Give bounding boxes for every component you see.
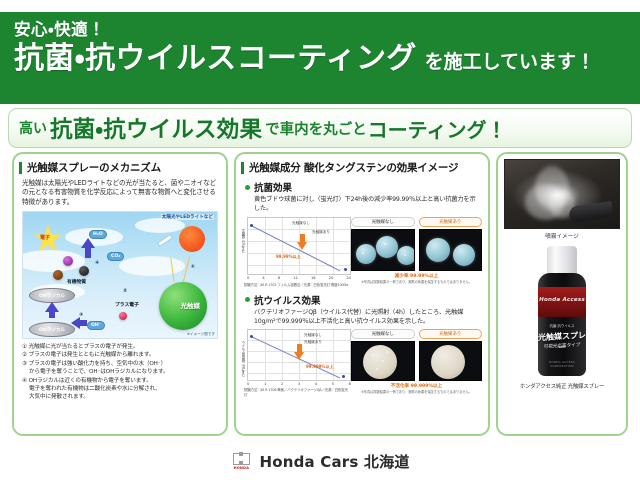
- photo-pair: 光触媒なし 光触媒あり: [351, 329, 482, 381]
- gridline: [248, 229, 350, 230]
- plaque-speck: [376, 368, 378, 370]
- chart-y-label: 生菌数（CFU/mL）: [241, 229, 246, 255]
- header-banner: 安心・快適！ 抗菌・抗ウイルスコーティング を施工しています！: [0, 12, 640, 104]
- accent-bar: [241, 162, 244, 174]
- chart-y-label: ウイルス感染価（PFU/mL）: [241, 341, 246, 378]
- decrease-arrow-icon: [297, 234, 308, 250]
- molecule-oh: OH⁻: [87, 321, 105, 330]
- bottle-brand: Honda Access: [538, 297, 586, 303]
- bottle-upper-text: 抗菌・抗ウイルス: [538, 323, 586, 328]
- tick: 20: [329, 276, 334, 280]
- antiviral-chart: ウイルス感染価（PFU/mL） 99.999%以上 光触: [243, 329, 351, 397]
- step-marker-4: ④: [95, 260, 99, 266]
- chart-annotation: 99.99%以上: [276, 254, 301, 260]
- step-line: ② プラスの電子は発生とともに光触媒から離れます。: [22, 351, 220, 359]
- banner-main-row: 抗菌・抗ウイルスコーティング を施工しています！: [14, 42, 634, 76]
- tick: 24: [346, 276, 351, 280]
- photo-footnote: ※写真は試験結果の一例であり、実際の効果を保証するものではありません。: [351, 280, 482, 284]
- oh-radical-label-2: OHラジカル: [29, 322, 75, 337]
- petri-photo-with: [419, 229, 483, 271]
- honda-logo-icon: HONDA: [230, 450, 252, 472]
- particle: [79, 266, 89, 276]
- tick: 8: [278, 276, 280, 280]
- spray-caption: 噴霧イメージ: [498, 232, 626, 240]
- step-line: ③ プラスの電子は強い酸化力を持ち、空気中の水（OH⁻）: [22, 360, 220, 368]
- decrease-arrow-icon: [294, 344, 305, 360]
- photo-footnote: ※写真は試験結果の一例であり、実際の効果を保証するものではありません。: [351, 390, 482, 394]
- photo-tag-with: 光触媒あり: [419, 217, 483, 227]
- organic-matter-label: 有機物質: [67, 278, 86, 285]
- spray-photo: [504, 159, 620, 229]
- cloud-shape: [22, 250, 85, 272]
- arrow-left-icon: [71, 317, 80, 329]
- data-point: [342, 375, 345, 378]
- molecule-co2: CO₂: [107, 252, 124, 261]
- tick: 1: [264, 382, 266, 386]
- advertisement-page: 安心・快適！ 抗菌・抗ウイルスコーティング を施工しています！ 高い 抗菌・抗ウ…: [0, 0, 640, 480]
- antibacterial-chart: 生菌数（CFU/mL） 99.99%以上 光触媒なし: [243, 217, 351, 288]
- mechanism-body: 光触媒は太陽光やLEDライトなどの光が当たると、菌やニオイなどの元となる有害物質…: [14, 179, 226, 207]
- mechanism-diagram: 太陽光やLEDライトなど 電子 ① H₂O CO₂ ④ 有機物質 OHラジカル …: [22, 211, 218, 339]
- chart-plot-area: 99.999%以上 光触媒なし 光触媒あり: [247, 329, 351, 381]
- bullet-dot-icon: [245, 185, 250, 190]
- photocatalyst-label: 光触媒: [181, 300, 201, 310]
- light-ray: [183, 256, 190, 281]
- petri-dish: [453, 244, 475, 266]
- honda-wordmark: HONDA: [234, 466, 250, 470]
- chart-legend-1: 光触媒なし: [304, 333, 322, 338]
- chart-legend-2: 光触媒あり: [304, 340, 322, 345]
- banner-tail-text: を施工しています！: [425, 47, 595, 74]
- data-point: [250, 224, 253, 227]
- photo-column-treated: 光触媒あり: [419, 329, 483, 381]
- gridline: [248, 265, 350, 266]
- petri-dish: [356, 244, 376, 264]
- effect-heading-row: 光触媒成分 酸化タングステンの効果イメージ: [241, 160, 488, 175]
- bottle-body: Honda Access 抗菌・抗ウイルス 光触媒スプレー 可視光応答タイプ H…: [538, 273, 586, 376]
- step-line: 電子を奪われた有機物は二酸化炭素や水に分解され、: [22, 385, 220, 393]
- product-panel: 噴霧イメージ Honda Access 抗菌・抗ウイルス 光触媒スプレー 可視光…: [496, 152, 628, 436]
- tick: 5: [332, 382, 334, 386]
- chart-caption: 試験方法：JIS R 1706 準拠／バクテリオファージQβ／光源：白色蛍光灯: [244, 388, 351, 397]
- effect-panel: 光触媒成分 酸化タングステンの効果イメージ 抗菌効果 黄色ブドウ球菌に対し〈蛍光…: [234, 152, 490, 436]
- banner-main-title: 抗菌・抗ウイルスコーティング: [14, 42, 417, 76]
- tick: 6: [349, 382, 351, 386]
- antibacterial-body: 黄色ブドウ球菌に対し〈蛍光灯〉下24h後の減少率99.99％以上と高い抗菌力を示…: [236, 196, 488, 214]
- arrow-up-icon: [45, 302, 59, 312]
- product-caption: ホンダアクセス純正 光触媒スプレー: [498, 382, 626, 390]
- gridline: [248, 362, 350, 363]
- petri-photo-without: [351, 229, 415, 271]
- arrow-stem: [79, 320, 87, 326]
- accent-bar: [19, 162, 22, 174]
- footer: HONDA Honda Cars 北海道: [0, 442, 640, 480]
- plus-electron-label: プラス電子: [115, 301, 139, 308]
- subtitle-emphasis: 抗菌・抗ウイルス効果: [50, 112, 262, 144]
- diagram-note: ※イメージ図です: [187, 332, 215, 337]
- tick: 2: [281, 382, 283, 386]
- product-bottle: Honda Access 抗菌・抗ウイルス 光触媒スプレー 可視光応答タイプ H…: [534, 246, 590, 378]
- tick: 3: [298, 382, 300, 386]
- bottle-bottom-text: HONDA ACCESS CORPORATION: [538, 360, 586, 368]
- antiviral-evidence: ウイルス感染価（PFU/mL） 99.999%以上 光触: [243, 329, 482, 397]
- petri-photo-with: [419, 341, 483, 381]
- chart-legend-2: 光触媒あり: [312, 230, 330, 235]
- plaque-speck: [382, 360, 384, 362]
- antiviral-heading-row: 抗ウイルス効果: [245, 293, 488, 307]
- light-source-caption: 太陽光やLEDライトなど: [161, 214, 214, 220]
- effect-heading: 光触媒成分 酸化タングステンの効果イメージ: [249, 160, 458, 175]
- petri-dish: [376, 236, 398, 258]
- mechanism-heading: 光触媒スプレーのメカニズム: [27, 160, 161, 175]
- photo-tag-with: 光触媒あり: [419, 329, 483, 339]
- plaque-speck: [386, 351, 388, 353]
- bottle-cap: [547, 246, 577, 276]
- petri-dish: [431, 345, 465, 379]
- chart-annotation: 99.999%以上: [306, 364, 333, 370]
- cloud-shape: [119, 256, 185, 276]
- photo-pair: 光触媒なし 光触媒あり: [351, 217, 482, 271]
- photo-tag-without: 光触媒なし: [351, 329, 415, 339]
- step-line: 大気中に発散されます。: [22, 393, 220, 401]
- antiviral-body: バクテリオファージQβ（ウイルス代替）に光照射（4h）したところ、光触媒10g/…: [236, 309, 488, 327]
- chart-plot-area: 99.99%以上 光触媒なし 光触媒あり: [247, 217, 351, 275]
- subtitle-strip: 高い 抗菌・抗ウイルス効果 で車内を丸ごと コーティング！: [8, 108, 632, 148]
- antiviral-photos: 光触媒なし 光触媒あり: [351, 329, 482, 394]
- photo-column-treated: 光触媒あり: [419, 217, 483, 271]
- petri-photo-without: [351, 341, 415, 381]
- subtitle-lead: 高い: [19, 118, 47, 138]
- honda-h-mark: [233, 453, 250, 465]
- antibacterial-photos: 光触媒なし 光触媒あり: [351, 217, 482, 284]
- plaque-speck: [372, 354, 374, 356]
- chart-legend-1: 光触媒なし: [292, 221, 310, 226]
- step-line: ① 光触媒に光が当たるとプラスの電子が発生。: [22, 343, 220, 351]
- petri-dish: [426, 238, 450, 262]
- reduction-note: 減少率 99.99%以上: [351, 273, 482, 279]
- photo-column-control: 光触媒なし: [351, 329, 415, 381]
- colony-speck: [384, 243, 386, 245]
- subtitle-emphasis-2: コーティング！: [368, 114, 507, 143]
- petri-dish: [397, 246, 415, 265]
- arrow-up-icon: [81, 238, 95, 248]
- step-marker-1: ①: [191, 264, 195, 270]
- chart-x-ticks: 0 1 2 3 4 5 6: [247, 382, 351, 386]
- dealer-name: Honda Cars 北海道: [259, 451, 409, 472]
- tick: 0: [247, 276, 249, 280]
- banner-subtitle: 安心・快適！: [14, 21, 640, 38]
- petri-dish: [363, 345, 397, 379]
- colony-speck: [362, 252, 364, 254]
- oh-radical-label: OHラジカル: [29, 288, 75, 303]
- mechanism-panel: 光触媒スプレーのメカニズム 光触媒は太陽光やLEDライトなどの光が当たると、菌や…: [12, 152, 228, 436]
- reduction-note: 不活化率 99.999%以上: [351, 383, 482, 389]
- tick: 4: [315, 382, 317, 386]
- particle: [53, 270, 63, 280]
- antibacterial-heading-row: 抗菌効果: [245, 180, 488, 194]
- cloud-shape: [135, 218, 185, 233]
- electron-particle: [119, 312, 127, 320]
- photo-tag-without: 光触媒なし: [351, 217, 415, 227]
- electron-label: 電子: [40, 234, 50, 241]
- photo-column-control: 光触媒なし: [351, 217, 415, 271]
- led-light-icon: [157, 234, 173, 247]
- chart-x-ticks: 0 4 8 12 16 20 24: [247, 276, 351, 280]
- subtitle-middle: で車内を丸ごと: [265, 118, 367, 139]
- colony-speck: [404, 254, 406, 256]
- antiviral-title: 抗ウイルス効果: [254, 293, 321, 307]
- data-point: [344, 268, 347, 271]
- chart-caption: 試験方法：JIS R 1702 フィルム密着法／光源：白色蛍光灯 照度1000l…: [244, 283, 351, 288]
- tick: 0: [247, 382, 249, 386]
- tick: 4: [262, 276, 264, 280]
- bullet-dot-icon: [245, 297, 250, 302]
- step-marker-2: ②: [123, 288, 127, 294]
- step-line: から電子を奪うことで、OH⁻はOHラジカルになります。: [22, 368, 220, 376]
- sun-icon: [179, 226, 205, 252]
- antibacterial-title: 抗菌効果: [254, 180, 292, 194]
- antibacterial-evidence: 生菌数（CFU/mL） 99.99%以上 光触媒なし: [243, 217, 482, 288]
- mechanism-steps: ① 光触媒に光が当たるとプラスの電子が発生。 ② プラスの電子は発生とともに光触…: [14, 339, 226, 402]
- mechanism-heading-row: 光触媒スプレーのメカニズム: [19, 160, 226, 175]
- tick: 12: [293, 276, 298, 280]
- step-line: ④ OHラジカルは近くの有機物から電子を奪います。: [22, 377, 220, 385]
- tick: 16: [311, 276, 316, 280]
